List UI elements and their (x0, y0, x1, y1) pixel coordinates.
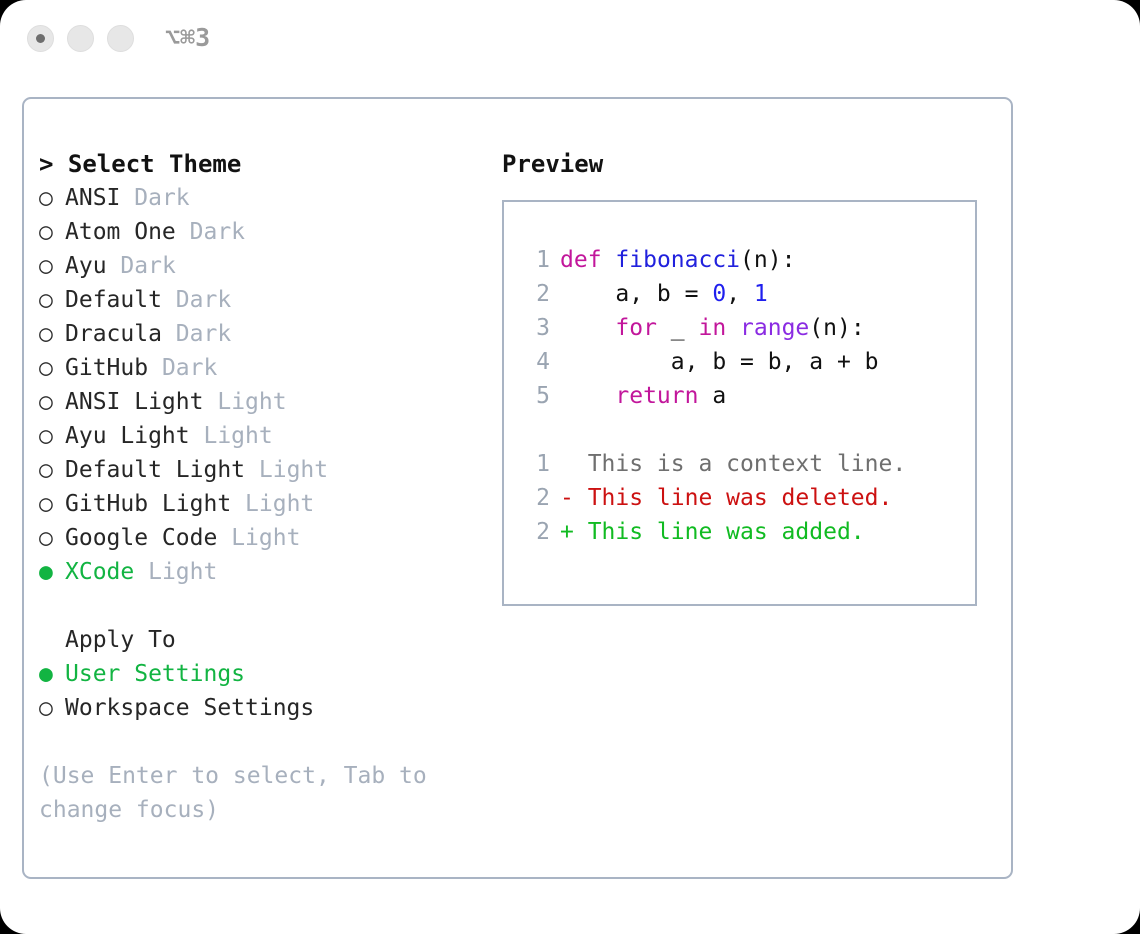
radio-selected-icon: ● (39, 657, 65, 691)
code-token-plain: a (698, 383, 726, 409)
theme-option-label: GitHub (65, 355, 148, 381)
code-preview: 1def fibonacci(n):2 a, b = 0, 13 for _ i… (516, 243, 969, 549)
label-gap (120, 185, 134, 211)
theme-option-label: Google Code (65, 525, 217, 551)
label-gap (107, 253, 121, 279)
theme-option-github-light[interactable]: ○GitHub Light Light (39, 487, 479, 521)
code-token-fn: fibonacci (615, 247, 740, 273)
radio-unselected-icon: ○ (39, 691, 65, 725)
theme-option-label: ANSI Light (65, 389, 203, 415)
code-token-plain: , (726, 281, 754, 307)
diff-line-content: This is a context line. (550, 451, 906, 477)
code-token-num: 1 (754, 281, 768, 307)
preview-title: Preview (502, 147, 1002, 181)
code-token-plain: (n): (740, 247, 795, 273)
apply-to-heading-indent (39, 623, 65, 657)
theme-variant-tag: Dark (176, 287, 231, 313)
code-token-num: 0 (712, 281, 726, 307)
title-bar: ⌥⌘3 (0, 0, 1140, 78)
label-gap (148, 355, 162, 381)
diff-line-content: - This line was deleted. (550, 485, 892, 511)
code-token-plain: (n): (809, 315, 864, 341)
apply-to-heading: Apply To (39, 623, 479, 657)
label-gap (217, 525, 231, 551)
code-line-content: a, b = 0, 1 (550, 281, 768, 307)
theme-option-label: Ayu Light (65, 423, 190, 449)
line-number: 5 (516, 379, 550, 413)
apply-to-options: ●User Settings○Workspace Settings (39, 657, 479, 725)
radio-unselected-icon: ○ (39, 419, 65, 453)
diff-line-del: 2- This line was deleted. (516, 481, 969, 515)
label-gap (176, 219, 190, 245)
app-window: ⌥⌘3 > Select Theme ○ANSI Dark○Atom One D… (0, 0, 1140, 934)
line-number: 1 (516, 243, 550, 277)
theme-variant-tag: Light (217, 389, 286, 415)
theme-list-heading: > Select Theme (39, 147, 479, 181)
theme-selector: > Select Theme ○ANSI Dark○Atom One Dark○… (39, 147, 479, 827)
code-token-kw: in (698, 315, 726, 341)
theme-option-github[interactable]: ○GitHub Dark (39, 351, 479, 385)
code-token-plain: a, b = b, a + b (560, 349, 879, 375)
code-token-builtin: range (740, 315, 809, 341)
radio-unselected-icon: ○ (39, 215, 65, 249)
radio-unselected-icon: ○ (39, 317, 65, 351)
apply-to-option-label: User Settings (65, 661, 245, 687)
code-line-content: for _ in range(n): (550, 315, 865, 341)
preview-box: 1def fibonacci(n):2 a, b = 0, 13 for _ i… (502, 200, 977, 606)
line-number: 4 (516, 345, 550, 379)
theme-variant-tag: Dark (162, 355, 217, 381)
diff-line-ctx: 1 This is a context line. (516, 447, 969, 481)
code-line: 1def fibonacci(n): (516, 243, 969, 277)
theme-option-label: Ayu (65, 253, 107, 279)
code-token-plain (602, 247, 616, 273)
code-line: 4 a, b = b, a + b (516, 345, 969, 379)
theme-variant-tag: Dark (176, 321, 231, 347)
code-token-kw: for (615, 315, 657, 341)
line-number: 2 (516, 515, 550, 549)
theme-option-xcode[interactable]: ●XCode Light (39, 555, 479, 589)
radio-unselected-icon: ○ (39, 453, 65, 487)
active-dot-icon (36, 34, 45, 43)
code-line: 3 for _ in range(n): (516, 311, 969, 345)
code-line: 5 return a (516, 379, 969, 413)
theme-variant-tag: Light (245, 491, 314, 517)
theme-option-default[interactable]: ○Default Dark (39, 283, 479, 317)
theme-option-label: Dracula (65, 321, 162, 347)
theme-option-atom-one[interactable]: ○Atom One Dark (39, 215, 479, 249)
code-line-content: return a (550, 383, 726, 409)
theme-option-label: XCode (65, 559, 134, 585)
diff-line-add: 2+ This line was added. (516, 515, 969, 549)
code-line: 2 a, b = 0, 1 (516, 277, 969, 311)
minimize-button[interactable] (67, 25, 94, 52)
line-number: 2 (516, 481, 550, 515)
diff-line-content: + This line was added. (550, 519, 865, 545)
theme-option-ansi[interactable]: ○ANSI Dark (39, 181, 479, 215)
line-number: 3 (516, 311, 550, 345)
theme-variant-tag: Dark (134, 185, 189, 211)
radio-unselected-icon: ○ (39, 351, 65, 385)
label-gap (245, 457, 259, 483)
label-gap (190, 423, 204, 449)
theme-option-default-light[interactable]: ○Default Light Light (39, 453, 479, 487)
theme-option-label: GitHub Light (65, 491, 231, 517)
main-panel: > Select Theme ○ANSI Dark○Atom One Dark○… (22, 97, 1013, 879)
theme-option-ayu[interactable]: ○Ayu Dark (39, 249, 479, 283)
keyboard-hint: (Use Enter to select, Tab to change focu… (39, 759, 439, 827)
radio-unselected-icon: ○ (39, 521, 65, 555)
line-number: 1 (516, 447, 550, 481)
close-button[interactable] (27, 25, 54, 52)
keyboard-shortcut-label: ⌥⌘3 (165, 23, 210, 52)
theme-option-label: Default (65, 287, 162, 313)
code-token-kw: def (560, 247, 602, 273)
apply-to-option-user-settings[interactable]: ●User Settings (39, 657, 479, 691)
theme-variant-tag: Light (148, 559, 217, 585)
theme-option-ayu-light[interactable]: ○Ayu Light Light (39, 419, 479, 453)
theme-option-ansi-light[interactable]: ○ANSI Light Light (39, 385, 479, 419)
radio-unselected-icon: ○ (39, 283, 65, 317)
code-diff-separator (516, 413, 969, 447)
theme-variant-tag: Dark (120, 253, 175, 279)
theme-variant-tag: Dark (190, 219, 245, 245)
apply-to-option-workspace-settings[interactable]: ○Workspace Settings (39, 691, 479, 725)
window-controls (27, 25, 134, 52)
apply-to-option-label: Workspace Settings (65, 695, 314, 721)
list-spacer (39, 589, 479, 623)
preview-section: Preview 1def fibonacci(n):2 a, b = 0, 13… (502, 147, 1002, 606)
theme-option-label: Default Light (65, 457, 245, 483)
line-number: 2 (516, 277, 550, 311)
radio-selected-icon: ● (39, 555, 65, 589)
theme-option-dracula[interactable]: ○Dracula Dark (39, 317, 479, 351)
theme-variant-tag: Light (203, 423, 272, 449)
radio-unselected-icon: ○ (39, 249, 65, 283)
theme-variant-tag: Light (231, 525, 300, 551)
code-token-plain (560, 315, 615, 341)
code-token-kw: return (615, 383, 698, 409)
theme-option-label: Atom One (65, 219, 176, 245)
label-gap (231, 491, 245, 517)
code-line-content: a, b = b, a + b (550, 349, 879, 375)
theme-option-label: ANSI (65, 185, 120, 211)
code-token-plain (560, 383, 615, 409)
code-token-plain: a, b = (560, 281, 712, 307)
label-gap (134, 559, 148, 585)
radio-unselected-icon: ○ (39, 487, 65, 521)
theme-option-google-code[interactable]: ○Google Code Light (39, 521, 479, 555)
label-gap (203, 389, 217, 415)
label-gap (162, 321, 176, 347)
code-token-plain: _ (657, 315, 699, 341)
theme-list: ○ANSI Dark○Atom One Dark○Ayu Dark○Defaul… (39, 181, 479, 589)
apply-to-heading-label: Apply To (65, 627, 176, 653)
radio-unselected-icon: ○ (39, 385, 65, 419)
label-gap (162, 287, 176, 313)
code-token-plain (726, 315, 740, 341)
maximize-button[interactable] (107, 25, 134, 52)
code-line-content: def fibonacci(n): (550, 247, 795, 273)
theme-variant-tag: Light (259, 457, 328, 483)
radio-unselected-icon: ○ (39, 181, 65, 215)
